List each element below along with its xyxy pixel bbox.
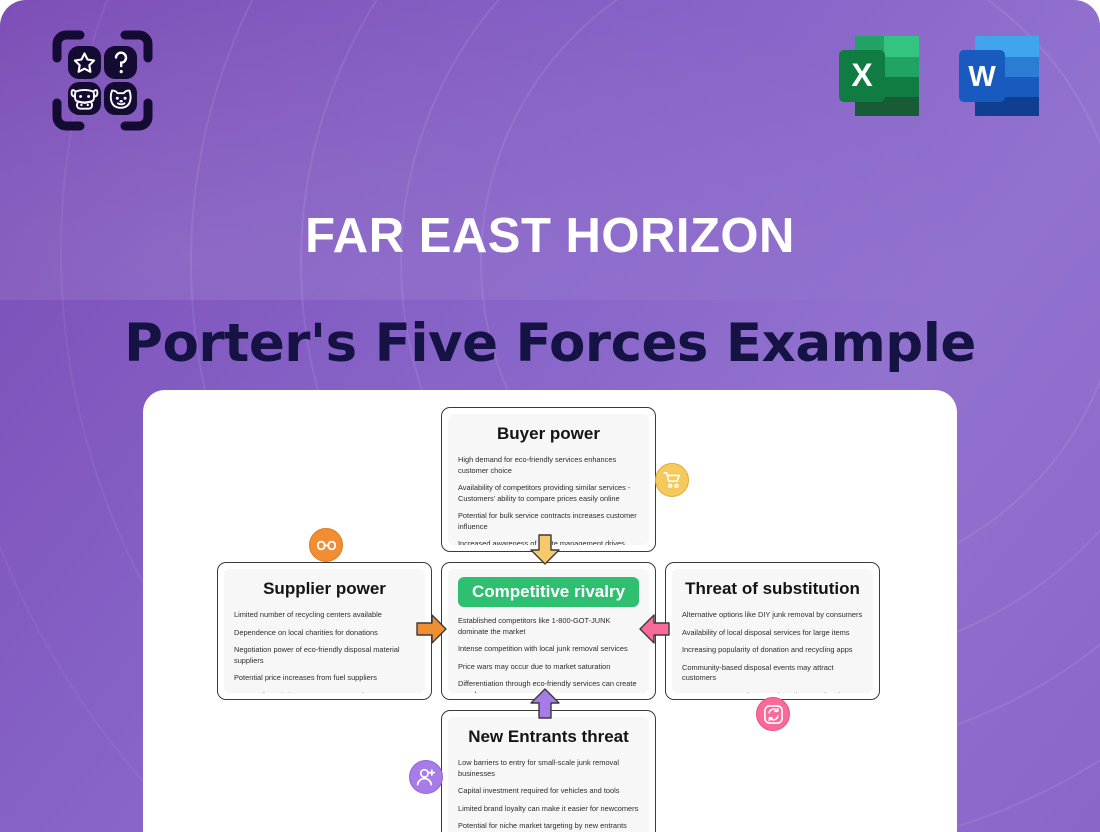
list-item: Limited brand loyalty can make it easier… (458, 804, 639, 815)
force-list-new-entrants-threat: Low barriers to entry for small-scale ju… (458, 758, 639, 832)
qr-frame-logo-icon (50, 28, 155, 133)
list-item: Intense competition with local junk remo… (458, 644, 639, 655)
shopping-cart-icon (655, 463, 689, 497)
list-item: Established competitors like 1-800-GOT-J… (458, 616, 639, 637)
force-title-new-entrants-threat: New Entrants threat (458, 727, 639, 747)
list-item: Availability of local disposal services … (682, 628, 863, 639)
list-item: Limited number of recycling centers avai… (234, 610, 415, 621)
list-item: Negotiation power of eco-friendly dispos… (234, 645, 415, 666)
brand-title: FAR EAST HORIZON (0, 208, 1100, 264)
force-list-competitive-rivalry: Established competitors like 1-800-GOT-J… (458, 616, 639, 693)
list-item: High demand for eco-friendly services en… (458, 455, 639, 476)
svg-text:X: X (851, 57, 873, 93)
list-item: Availability of competitors providing si… (458, 483, 639, 504)
list-item: Capital investment required for vehicles… (458, 786, 639, 797)
person-add-icon (409, 760, 443, 794)
force-box-competitive-rivalry[interactable]: Competitive rivalry Established competit… (441, 562, 656, 700)
force-box-supplier-power[interactable]: Supplier power Limited number of recycli… (217, 562, 432, 700)
force-title-competitive-rivalry: Competitive rivalry (458, 577, 639, 607)
office-icons-group: X W (833, 30, 1045, 122)
list-item: Community-based disposal events may attr… (682, 663, 863, 684)
list-item: Price wars may occur due to market satur… (458, 662, 639, 673)
list-item: Increasing popularity of donation and re… (682, 645, 863, 656)
refresh-cycle-icon (756, 697, 790, 731)
force-list-supplier-power: Limited number of recycling centers avai… (234, 610, 415, 693)
list-item: Impact of regulations on waste processin… (234, 691, 415, 693)
arrow-up-entrants-to-rivalry-icon (528, 687, 562, 720)
excel-icon: X (833, 30, 925, 122)
svg-text:W: W (968, 61, 996, 93)
list-item: Alternative options like DIY junk remova… (682, 610, 863, 621)
page-root: X W FAR EAST HORIZON Porter's Five Force… (0, 0, 1100, 832)
list-item: Potential for niche market targeting by … (458, 821, 639, 832)
arrow-right-supplier-to-rivalry-icon (415, 612, 448, 646)
list-item: Potential price increases from fuel supp… (234, 673, 415, 684)
word-icon: W (953, 30, 1045, 122)
force-title-supplier-power: Supplier power (234, 579, 415, 599)
list-item: Low barriers to entry for small-scale ju… (458, 758, 639, 779)
force-title-buyer-power: Buyer power (458, 424, 639, 444)
list-item: Dependence on local charities for donati… (234, 628, 415, 639)
link-chain-icon (309, 528, 343, 562)
page-title: Porter's Five Forces Example (0, 313, 1100, 374)
list-item: Potential for bulk service contracts inc… (458, 511, 639, 532)
force-box-buyer-power[interactable]: Buyer power High demand for eco-friendly… (441, 407, 656, 552)
list-item: Homeowners may choose to keep items rath… (682, 691, 863, 693)
force-list-threat-of-substitution: Alternative options like DIY junk remova… (682, 610, 863, 693)
force-list-buyer-power: High demand for eco-friendly services en… (458, 455, 639, 545)
arrow-down-buyer-to-rivalry-icon (528, 533, 562, 566)
document-canvas: Buyer power High demand for eco-friendly… (143, 390, 957, 832)
force-box-new-entrants-threat[interactable]: New Entrants threat Low barriers to entr… (441, 710, 656, 832)
porters-five-forces-diagram: Buyer power High demand for eco-friendly… (143, 390, 957, 832)
force-title-threat-of-substitution: Threat of substitution (682, 579, 863, 599)
arrow-left-substitution-to-rivalry-icon (638, 612, 671, 646)
force-box-threat-of-substitution[interactable]: Threat of substitution Alternative optio… (665, 562, 880, 700)
